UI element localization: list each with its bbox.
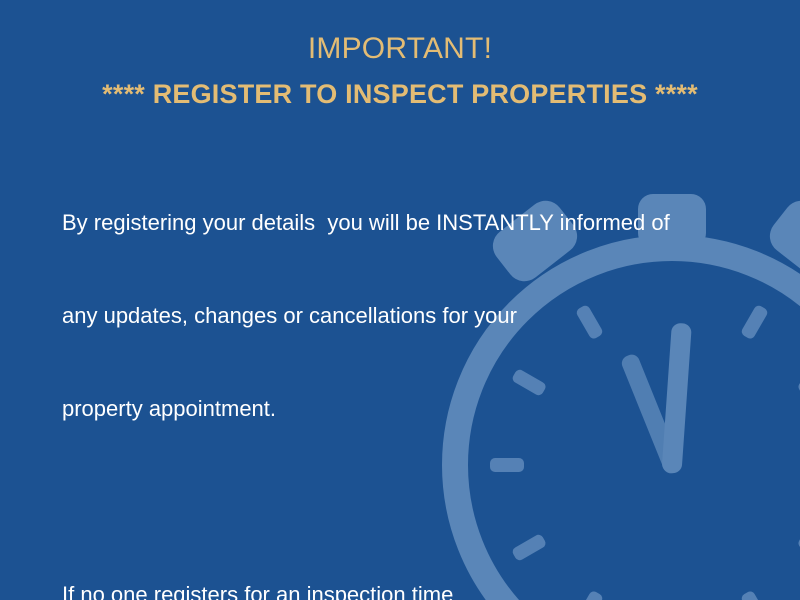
heading-register-to-inspect: **** REGISTER TO INSPECT PROPERTIES **** [0,76,800,112]
stopwatch-right-lug [763,194,800,289]
paragraph-registering-line-3: property appointment. [62,393,722,424]
paragraph-registering-line-1: By registering your details you will be … [62,207,722,238]
slide-canvas: IMPORTANT! **** REGISTER TO INSPECT PROP… [0,0,800,600]
heading-block: IMPORTANT! **** REGISTER TO INSPECT PROP… [0,30,800,112]
paragraph-registering-line-2: any updates, changes or cancellations fo… [62,300,722,331]
paragraph-no-registrations-line-1: If no one registers for an inspection ti… [62,579,722,600]
paragraph-no-registrations: If no one registers for an inspection ti… [62,517,722,600]
paragraph-registering: By registering your details you will be … [62,145,722,486]
heading-important: IMPORTANT! [0,30,800,68]
body-copy: By registering your details you will be … [62,145,722,600]
